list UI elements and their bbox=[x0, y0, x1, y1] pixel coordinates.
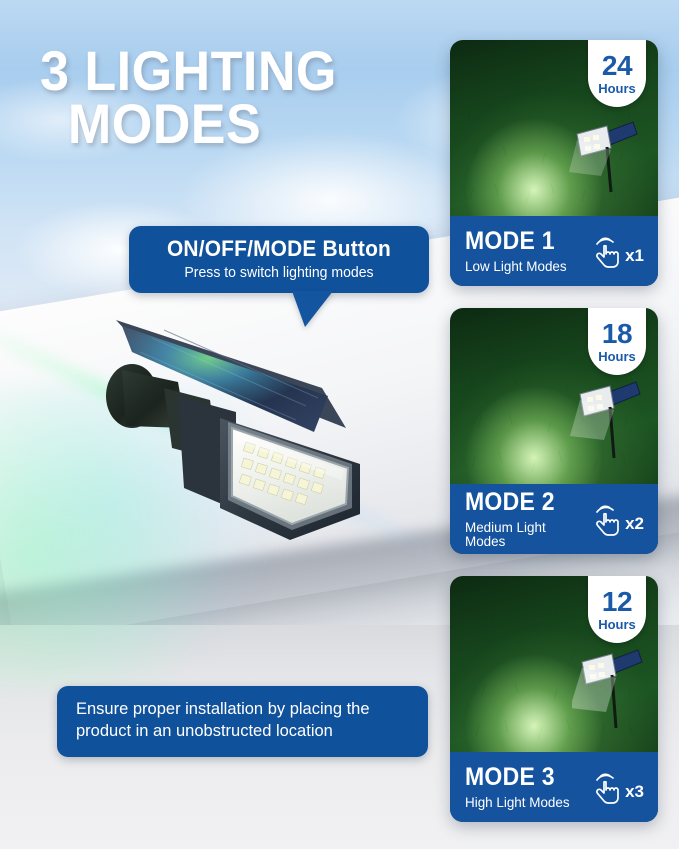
mode-card-footer: MODE 2 Medium Light Modes x2 bbox=[450, 484, 658, 554]
installation-note-callout: Ensure proper installation by placing th… bbox=[57, 686, 428, 757]
mode-title: MODE 2 bbox=[465, 490, 581, 515]
badge-number: 12 bbox=[602, 588, 632, 616]
mode-title: MODE 1 bbox=[465, 229, 562, 254]
callout-pointer-icon bbox=[292, 291, 333, 327]
mode-title: MODE 3 bbox=[465, 765, 565, 790]
press-indicator: x3 bbox=[591, 769, 644, 805]
mode-card[interactable]: 18 Hours MODE 2 Medium Light Modes x2 bbox=[450, 308, 658, 554]
mode-subtitle: High Light Modes bbox=[465, 795, 570, 809]
button-callout-subtitle: Press to switch lighting modes bbox=[139, 265, 418, 281]
duration-badge: 24 Hours bbox=[588, 40, 646, 107]
hand-tap-icon bbox=[591, 769, 623, 805]
mode-subtitle: Low Light Modes bbox=[465, 259, 567, 273]
mode-card-footer: MODE 1 Low Light Modes x1 bbox=[450, 216, 658, 286]
badge-unit: Hours bbox=[598, 350, 636, 363]
mini-lamp-icon bbox=[572, 638, 644, 730]
button-callout: ON/OFF/MODE Button Press to switch light… bbox=[129, 226, 429, 293]
mini-lamp-icon bbox=[570, 370, 642, 460]
button-callout-title: ON/OFF/MODE Button bbox=[142, 236, 416, 262]
badge-number: 24 bbox=[602, 52, 632, 80]
solar-light-product-image bbox=[60, 300, 410, 600]
press-indicator: x2 bbox=[591, 501, 644, 537]
mode-subtitle: Medium Light Modes bbox=[465, 520, 586, 548]
press-count: x1 bbox=[625, 246, 644, 269]
press-indicator: x1 bbox=[591, 233, 644, 269]
page-title: 3 LIGHTING MODES bbox=[40, 44, 393, 150]
mode-card-footer: MODE 3 High Light Modes x3 bbox=[450, 752, 658, 822]
hand-tap-icon bbox=[591, 233, 623, 269]
mode-card[interactable]: 12 Hours MODE 3 High Light Modes x3 bbox=[450, 576, 658, 822]
press-count: x2 bbox=[625, 514, 644, 537]
mode-card[interactable]: 24 Hours MODE 1 Low Light Modes x1 bbox=[450, 40, 658, 286]
badge-number: 18 bbox=[602, 320, 632, 348]
duration-badge: 18 Hours bbox=[588, 308, 646, 375]
title-line-2: MODES bbox=[40, 97, 393, 150]
badge-unit: Hours bbox=[598, 82, 636, 95]
duration-badge: 12 Hours bbox=[588, 576, 646, 643]
hand-tap-icon bbox=[591, 501, 623, 537]
mini-lamp-icon bbox=[567, 110, 639, 194]
press-count: x3 bbox=[625, 782, 644, 805]
badge-unit: Hours bbox=[598, 618, 636, 631]
infographic-canvas: 3 LIGHTING MODES ON/OFF/MODE Button Pres… bbox=[0, 0, 679, 849]
